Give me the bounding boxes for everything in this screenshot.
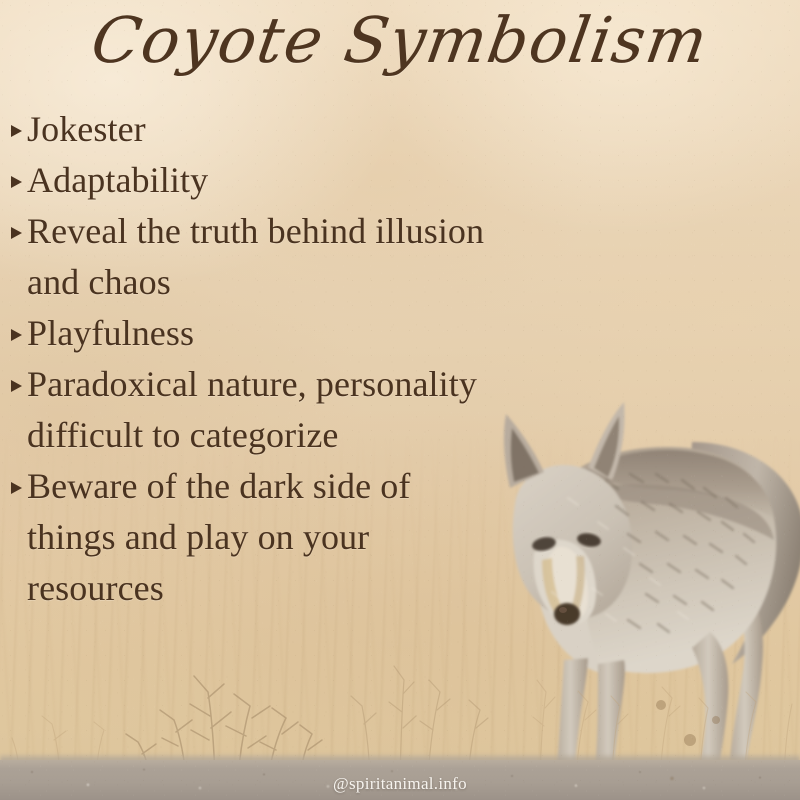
foreground-dry-shrubs bbox=[0, 588, 800, 778]
list-item-label: Reveal the truth behind illusion and cha… bbox=[27, 206, 500, 308]
list-item-label: Paradoxical nature, personality difficul… bbox=[27, 359, 500, 461]
list-item-label: Jokester bbox=[27, 104, 500, 155]
coyote-symbolism-poster: Coyote Symbolism Jokester Adaptability R… bbox=[0, 0, 800, 800]
watermark: @spiritanimal.info bbox=[0, 774, 800, 794]
list-item: Beware of the dark side of things and pl… bbox=[8, 461, 500, 614]
symbolism-list: Jokester Adaptability Reveal the truth b… bbox=[8, 104, 500, 614]
page-title: Coyote Symbolism bbox=[0, 8, 800, 74]
list-item: Adaptability bbox=[8, 155, 500, 206]
list-item: Reveal the truth behind illusion and cha… bbox=[8, 206, 500, 308]
list-item: Playfulness bbox=[8, 308, 500, 359]
list-item: Jokester bbox=[8, 104, 500, 155]
list-item: Paradoxical nature, personality difficul… bbox=[8, 359, 500, 461]
list-item-label: Playfulness bbox=[27, 308, 500, 359]
list-item-label: Beware of the dark side of things and pl… bbox=[27, 461, 500, 614]
list-item-label: Adaptability bbox=[27, 155, 500, 206]
